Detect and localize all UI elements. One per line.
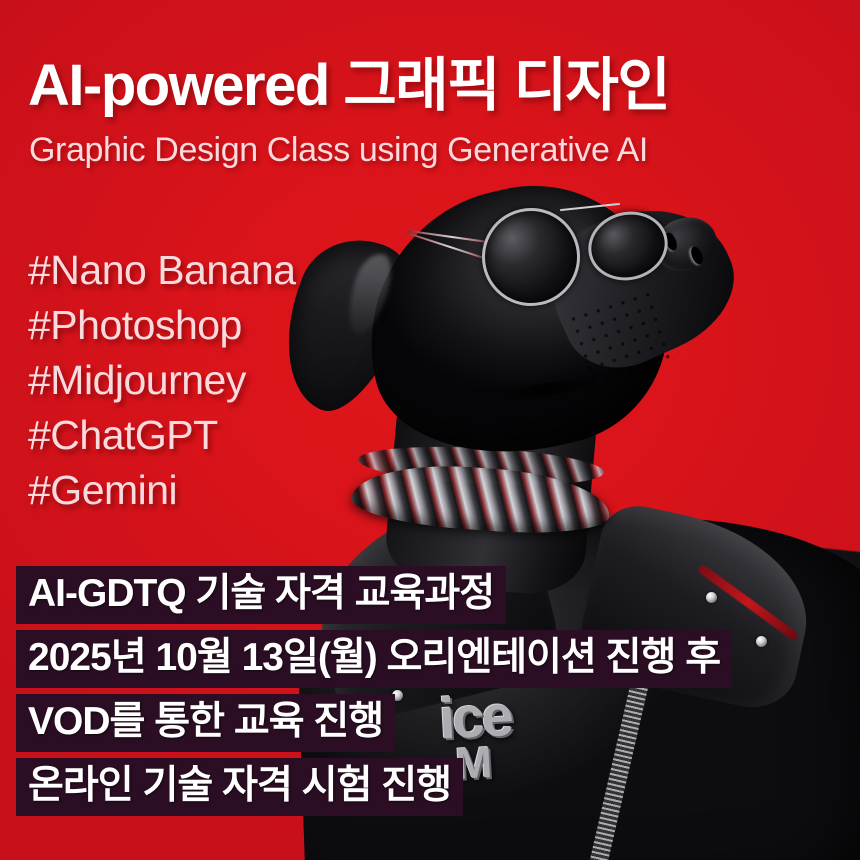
info-line: 2025년 10월 13일(월) 오리엔테이션 진행 후	[16, 630, 732, 688]
poster-title: AI-powered 그래픽 디자인	[28, 38, 669, 122]
poster-subtitle: Graphic Design Class using Generative AI	[29, 131, 648, 170]
hashtag-item: #Gemini	[28, 463, 296, 518]
hashtag-item: #Photoshop	[28, 298, 296, 353]
poster-canvas: ice M AI-powered 그래픽 디자인 Graphic Design …	[0, 0, 860, 860]
jacket-stud	[756, 636, 767, 647]
info-line-list: AI-GDTQ 기술 자격 교육과정 2025년 10월 13일(월) 오리엔테…	[16, 566, 732, 816]
info-line: 온라인 기술 자격 시험 진행	[16, 758, 463, 816]
info-line: VOD를 통한 교육 진행	[16, 694, 395, 752]
info-line: AI-GDTQ 기술 자격 교육과정	[16, 566, 506, 624]
hashtag-list: #Nano Banana #Photoshop #Midjourney #Cha…	[28, 243, 296, 518]
hashtag-item: #Midjourney	[28, 353, 296, 408]
hashtag-item: #ChatGPT	[28, 408, 296, 463]
hashtag-item: #Nano Banana	[28, 243, 296, 298]
